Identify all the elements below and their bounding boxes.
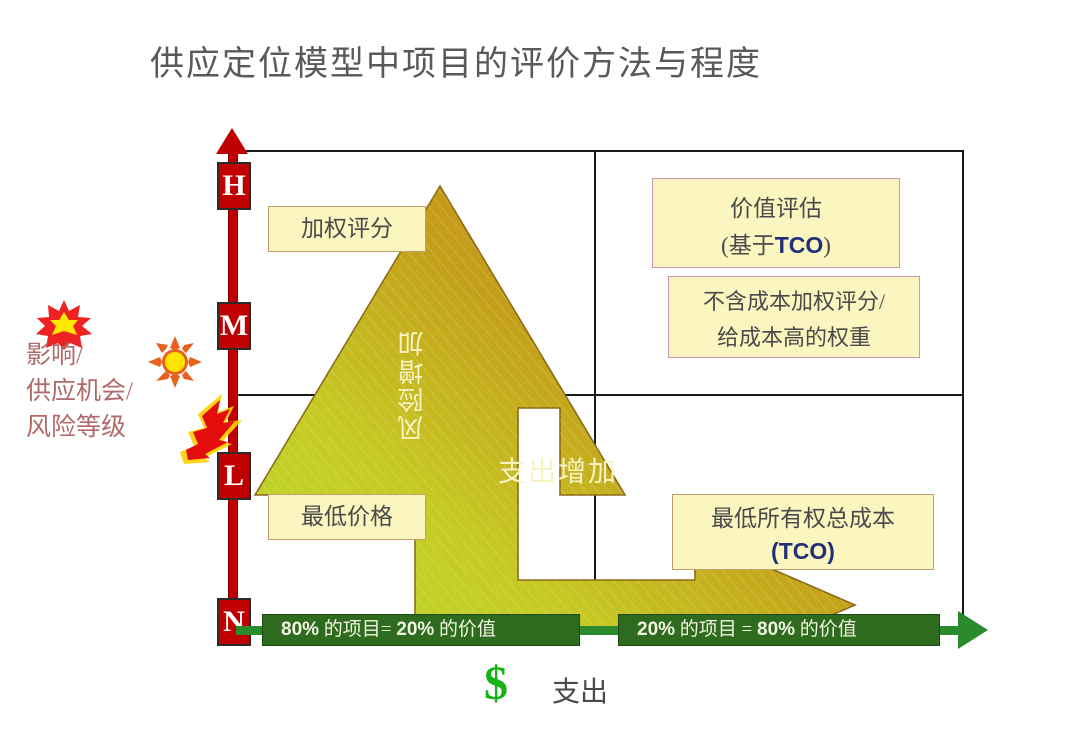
green-axis-connector-middle xyxy=(578,626,620,635)
value-assessment-tco: TCO xyxy=(775,232,824,258)
callout-value-assessment-line-1: 价值评估 xyxy=(653,191,899,227)
diagram-canvas: 供应定位模型中项目的评价方法与程度 H M L N 影响/ 供应机会/ 风险等级 xyxy=(0,0,1080,734)
y-axis-label-line-1: 影响/ xyxy=(26,342,83,369)
callout-non-cost-line-2: 给成本高的权重 xyxy=(669,320,919,356)
y-axis-label: 影响/ 供应机会/ 风险等级 xyxy=(26,338,133,446)
bottom-bar-right-tail: 的价值 xyxy=(795,619,857,640)
bottom-bar-left-tail: 的价值 xyxy=(434,619,496,640)
callout-lowest-tco: 最低所有权总成本 (TCO) xyxy=(672,494,934,570)
callout-value-assessment: 价值评估 (基于TCO) xyxy=(652,178,900,268)
bottom-bar-left-pct1: 80% xyxy=(281,619,319,640)
callout-weighted-score: 加权评分 xyxy=(268,206,426,252)
bottom-bar-right-mid: 的项目 = xyxy=(675,619,757,640)
arrow-vertical-label: 风险增加 xyxy=(394,310,430,460)
bottom-bar-right-pct2: 80% xyxy=(757,619,795,640)
y-axis-tick-medium: M xyxy=(217,302,251,350)
callout-lowest-tco-line-2: (TCO) xyxy=(673,535,933,568)
bottom-bar-high-spend: 20% 的项目 = 80% 的价值 xyxy=(618,614,940,646)
lowest-tco-abbr: TCO xyxy=(779,538,828,564)
callout-lowest-tco-line-1: 最低所有权总成本 xyxy=(673,502,933,535)
bottom-bar-right-pct1: 20% xyxy=(637,619,675,640)
x-axis-arrowhead xyxy=(958,611,988,649)
lowest-tco-suffix: ) xyxy=(827,538,835,564)
x-axis-label: 支出 xyxy=(552,670,608,710)
value-assessment-prefix: (基于 xyxy=(721,233,775,258)
value-assessment-suffix: ) xyxy=(823,233,831,258)
arrow-horizontal-label: 支出增加 xyxy=(498,450,618,490)
y-axis-tick-high: H xyxy=(217,162,251,210)
lowest-tco-prefix: ( xyxy=(771,538,779,564)
callout-non-cost-line-1: 不含成本加权评分/ xyxy=(669,284,919,320)
y-axis-label-line-2: 供应机会/ xyxy=(26,378,133,405)
sun-icon xyxy=(148,336,202,388)
callout-lowest-price-text: 最低价格 xyxy=(269,495,425,539)
callout-non-cost-weighting: 不含成本加权评分/ 给成本高的权重 xyxy=(668,276,920,358)
page-title: 供应定位模型中项目的评价方法与程度 xyxy=(150,36,762,85)
y-axis-tick-none: N xyxy=(217,598,251,646)
callout-value-assessment-line-2: (基于TCO) xyxy=(653,227,899,264)
green-axis-connector-left xyxy=(236,626,264,635)
grid-right-border xyxy=(962,150,964,630)
y-axis-tick-low: L xyxy=(217,452,251,500)
bottom-bar-low-spend: 80% 的项目= 20% 的价值 xyxy=(262,614,580,646)
y-axis-label-line-3: 风险等级 xyxy=(26,414,126,441)
bottom-bar-left-mid: 的项目= xyxy=(319,619,396,640)
callout-weighted-score-text: 加权评分 xyxy=(269,207,425,251)
bottom-bar-left-pct2: 20% xyxy=(396,619,434,640)
callout-lowest-price: 最低价格 xyxy=(268,494,426,540)
dollar-sign-icon: $ xyxy=(484,660,508,708)
